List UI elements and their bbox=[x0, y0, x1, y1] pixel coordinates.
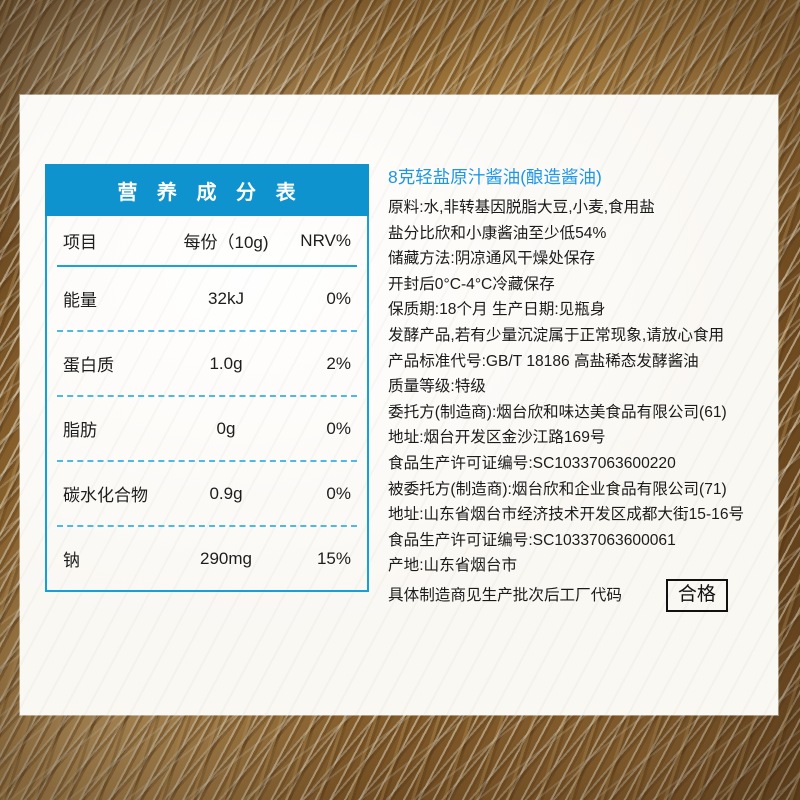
nutrition-table-header-row: 项目 每份（10g) NRV% bbox=[47, 216, 367, 265]
info-line-entrusted-license: 食品生产许可证编号:SC10337063600061 bbox=[388, 528, 760, 554]
row-item-label: 蛋白质 bbox=[63, 351, 175, 376]
nutrition-table-title: 营 养 成 分 表 bbox=[45, 164, 369, 216]
info-line-ingredients: 原料:水,非转基因脱脂大豆,小麦,食用盐 bbox=[388, 195, 760, 221]
row-item-nrv: 0% bbox=[281, 419, 351, 439]
row-item-value: 0.9g bbox=[175, 484, 281, 504]
info-line-origin: 产地:山东省烟台市 bbox=[388, 553, 760, 579]
info-line-standard-code: 产品标准代号:GB/T 18186 高盐稀态发酵酱油 bbox=[388, 349, 760, 375]
info-line-shelf-life: 保质期:18个月 生产日期:见瓶身 bbox=[388, 297, 760, 323]
row-item-label: 脂肪 bbox=[63, 416, 175, 441]
info-line-principal: 委托方(制造商):烟台欣和味达美食品有限公司(61) bbox=[388, 400, 760, 426]
info-line-entrusted: 被委托方(制造商):烟台欣和企业食品有限公司(71) bbox=[388, 477, 760, 503]
row-item-value: 1.0g bbox=[175, 354, 281, 374]
row-item-label: 碳水化合物 bbox=[63, 481, 175, 506]
quality-pass-badge: 合格 bbox=[666, 579, 728, 612]
row-item-label: 能量 bbox=[63, 286, 175, 311]
table-row: 能量 32kJ 0% bbox=[47, 267, 367, 330]
row-item-nrv: 2% bbox=[281, 354, 351, 374]
row-item-label: 钠 bbox=[63, 546, 175, 571]
info-line-factory-code: 具体制造商见生产批次后工厂代码 bbox=[388, 583, 622, 609]
table-row: 碳水化合物 0.9g 0% bbox=[47, 462, 367, 525]
info-line-quality-grade: 质量等级:特级 bbox=[388, 374, 760, 400]
nutrition-facts-table: 营 养 成 分 表 项目 每份（10g) NRV% 能量 32kJ 0% 蛋白质… bbox=[45, 166, 369, 592]
info-line-factory-code-row: 具体制造商见生产批次后工厂代码 合格 bbox=[388, 579, 760, 612]
label-screenshot: 营 养 成 分 表 项目 每份（10g) NRV% 能量 32kJ 0% 蛋白质… bbox=[0, 0, 800, 800]
column-header-item: 项目 bbox=[63, 228, 175, 253]
info-line-principal-address: 地址:烟台开发区金沙江路169号 bbox=[388, 425, 760, 451]
info-line-sediment: 发酵产品,若有少量沉淀属于正常现象,请放心食用 bbox=[388, 323, 760, 349]
info-line-principal-license: 食品生产许可证编号:SC10337063600220 bbox=[388, 451, 760, 477]
row-item-value: 0g bbox=[175, 419, 281, 439]
row-item-value: 290mg bbox=[175, 549, 281, 569]
row-item-value: 32kJ bbox=[175, 289, 281, 309]
column-header-per-serving: 每份（10g) bbox=[175, 228, 281, 253]
row-item-nrv: 0% bbox=[281, 289, 351, 309]
info-line-storage: 储藏方法:阴凉通风干燥处保存 bbox=[388, 246, 760, 272]
row-item-nrv: 15% bbox=[281, 549, 351, 569]
info-line-salt-claim: 盐分比欣和小康酱油至少低54% bbox=[388, 221, 760, 247]
row-item-nrv: 0% bbox=[281, 484, 351, 504]
product-label-panel: 营 养 成 分 表 项目 每份（10g) NRV% 能量 32kJ 0% 蛋白质… bbox=[20, 95, 778, 715]
product-title: 8克轻盐原汁酱油(酿造酱油) bbox=[388, 165, 760, 189]
column-header-nrv: NRV% bbox=[281, 231, 351, 251]
info-line-entrusted-address: 地址:山东省烟台市经济技术开发区成都大街15-16号 bbox=[388, 502, 760, 528]
table-row: 蛋白质 1.0g 2% bbox=[47, 332, 367, 395]
table-row: 脂肪 0g 0% bbox=[47, 397, 367, 460]
product-info-block: 8克轻盐原汁酱油(酿造酱油) 原料:水,非转基因脱脂大豆,小麦,食用盐 盐分比欣… bbox=[388, 165, 760, 612]
info-line-refrigerate: 开封后0°C-4°C冷藏保存 bbox=[388, 272, 760, 298]
table-row: 钠 290mg 15% bbox=[47, 527, 367, 590]
